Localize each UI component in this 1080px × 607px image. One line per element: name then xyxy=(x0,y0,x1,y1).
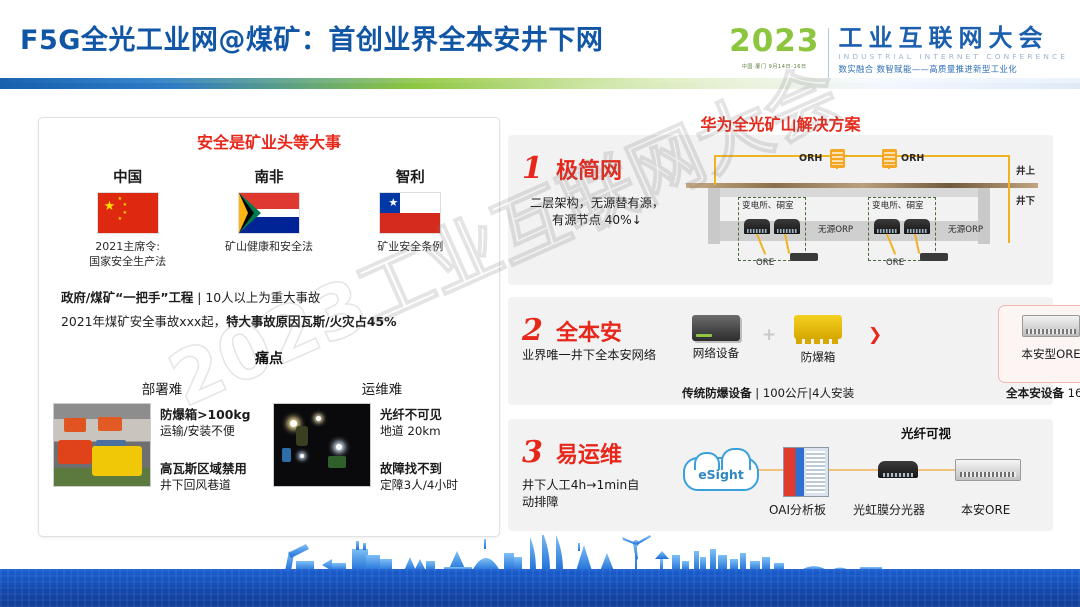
footer-decoration xyxy=(0,535,1080,607)
pain-item-bold: 高瓦斯区域禁用 xyxy=(160,461,247,476)
node-caption: 光虹膜分光器 xyxy=(853,501,925,518)
solution-section-easy-om: 3 易运维 井下人工4h→1min自 动排障 光纤可视 eSight OAI分析… xyxy=(508,419,1053,531)
topology-link xyxy=(917,469,959,471)
stat-line-1: 政府/煤矿“一把手”工程 | 10人以上为重大事故 xyxy=(61,286,479,310)
section-number: 2 xyxy=(522,313,543,348)
explosion-proof-box-icon xyxy=(794,315,842,339)
fiber-visible-label: 光纤可视 xyxy=(901,423,951,442)
node-caption: 本安ORE xyxy=(961,501,1010,518)
pain-point-maintenance: 运维难 光纤不可见 地道 20km 故障找不到 定障3人/4小时 xyxy=(273,378,485,493)
device-caption: 网络设备 xyxy=(678,345,754,361)
pain-points-row: 部署难 防爆箱>100kg 运输/安装不便 高瓦斯区域禁用 井下回风巷道 运维难 xyxy=(39,378,499,493)
section-heading: 易运维 xyxy=(556,437,622,469)
pain-points-title: 痛点 xyxy=(39,348,499,368)
intrinsically-safe-ore-icon xyxy=(955,459,1021,481)
underground-miners-photo xyxy=(273,403,371,487)
pain-item-bold: 防爆箱>100kg xyxy=(160,407,251,422)
ore-device-icon xyxy=(774,219,800,234)
optical-splitter-icon xyxy=(878,461,918,478)
logo-title-en: INDUSTRIAL INTERNET CONFERENCE xyxy=(838,52,1068,61)
logo-title-cn: 工业互联网大会 xyxy=(838,26,1068,51)
section-heading: 全本安 xyxy=(556,315,622,347)
flag-caption: 矿业安全条例 xyxy=(350,240,470,255)
device-network-equipment: 网络设备 xyxy=(678,315,754,361)
page-title: F5G全光工业网@煤矿：首创业界全本安井下网 xyxy=(20,18,603,57)
orp-node-left-icon xyxy=(790,253,818,261)
oai-board-icon xyxy=(783,447,829,497)
comparison-rest: 16公斤|1人安装 xyxy=(1064,386,1080,400)
comparison-bold: 传统防爆设备 xyxy=(682,386,752,400)
section-subtitle: 业界唯一井下全本安网络 xyxy=(522,347,672,364)
slide-header: F5G全光工业网@煤矿：首创业界全本安井下网 2023 中国·厦门 9月14日-… xyxy=(0,0,1080,88)
stat-1-rest: | 10人以上为重大事故 xyxy=(193,290,320,305)
left-panel-title: 安全是矿业头等大事 xyxy=(39,129,499,153)
conference-logo: 2023 中国·厦门 9月14日-16日 工业互联网大会 INDUSTRIAL … xyxy=(729,26,1068,82)
plus-icon: + xyxy=(762,325,776,345)
intrinsically-safe-ore-icon xyxy=(1022,315,1080,337)
shaft-right xyxy=(978,188,990,244)
right-panel-title: 华为全光矿山解决方案 xyxy=(508,111,1053,135)
substation-label-right: 变电所、硐室 xyxy=(872,199,924,211)
flag-country-label: 南非 xyxy=(209,166,329,187)
logo-divider xyxy=(828,28,829,80)
flag-country-label: 智利 xyxy=(350,166,470,187)
comparison-traditional: 传统防爆设备 | 100公斤|4人安装 xyxy=(682,385,854,401)
comparison-intrinsic: 全本安设备 16公斤|1人安装 xyxy=(1006,385,1080,401)
comparison-rest: | 100公斤|4人安装 xyxy=(752,386,855,400)
explosion-proof-boxes-photo xyxy=(53,403,151,487)
flag-item: 智利 ★ 矿业安全条例 xyxy=(350,166,470,270)
country-flags-row: 中国 ★ ★ ★ ★ ★ 2021主席令: 国家安全生产法 南非 矿山健康和安全… xyxy=(39,166,499,270)
arrow-right-icon: ❯ xyxy=(868,325,882,345)
ore-device-icon xyxy=(744,219,770,234)
logo-year-block: 2023 中国·厦门 9月14日-16日 xyxy=(729,26,828,70)
tunnel-top xyxy=(720,188,978,197)
section-heading: 极简网 xyxy=(556,153,622,185)
fiber-drop-left xyxy=(714,155,716,185)
orh-label-right: ORH xyxy=(901,153,924,164)
pain-head: 部署难 xyxy=(53,378,265,398)
underground-label: 井下 xyxy=(1016,193,1035,207)
pain-body: 光纤不可见 地道 20km 故障找不到 定障3人/4小时 xyxy=(273,403,485,493)
pain-item-text: 井下回风巷道 xyxy=(160,477,251,493)
orp-node-right-icon xyxy=(920,253,948,261)
orh-label-left: ORH xyxy=(799,153,822,164)
fiber-trunk xyxy=(714,155,1010,157)
node-caption: OAI分析板 xyxy=(769,501,826,518)
stat-line-2: 2021年煤矿安全事故xxx起，特大事故原因瓦斯/火灾占45% xyxy=(61,310,479,334)
solution-section-simplified-network: 1 极简网 二层架构，无源替有源， 有源节点 40%↓ ORH ORH 井上 井… xyxy=(508,135,1053,285)
flag-item: 南非 矿山健康和安全法 xyxy=(209,166,329,270)
orp-label-right: 无源ORP xyxy=(948,223,983,235)
logo-text-block: 工业互联网大会 INDUSTRIAL INTERNET CONFERENCE 数… xyxy=(838,26,1068,75)
fiber-drop-right xyxy=(1008,155,1010,243)
pain-body: 防爆箱>100kg 运输/安装不便 高瓦斯区域禁用 井下回风巷道 xyxy=(53,403,265,493)
esight-cloud-icon: eSight xyxy=(683,457,759,491)
logo-subtitle: 数实融合 数智赋能——高质量推进新型工业化 xyxy=(838,63,1068,75)
flag-caption: 2021主席令: 国家安全生产法 xyxy=(68,240,188,270)
flag-country-label: 中国 xyxy=(68,166,188,187)
pain-item-bold: 故障找不到 xyxy=(380,461,442,476)
footer-wave xyxy=(0,569,1080,607)
logo-year: 2023 xyxy=(729,26,819,57)
pain-item-text: 运输/安装不便 xyxy=(160,423,251,439)
left-panel: 安全是矿业头等大事 中国 ★ ★ ★ ★ ★ 2021主席令: 国家安全生产法 … xyxy=(38,117,500,537)
city-skyline-icon xyxy=(0,535,1080,573)
section-subtitle: 二层架构，无源替有源， 有源节点 40%↓ xyxy=(522,195,672,230)
ore-label-right: ORE xyxy=(886,258,904,268)
logo-year-subtitle: 中国·厦门 9月14日-16日 xyxy=(742,62,807,69)
shaft-left xyxy=(708,188,720,244)
stat-1-bold: 政府/煤矿“一把手”工程 xyxy=(61,290,193,305)
ore-label-left: ORE xyxy=(756,258,774,268)
solution-section-full-intrinsic-safety: 2 全本安 业界唯一井下全本安网络 网络设备 + 防爆箱 ❯ 本安型ORE + … xyxy=(508,297,1053,405)
flag-china-icon: ★ ★ ★ ★ ★ xyxy=(97,192,159,234)
network-device-icon xyxy=(692,315,740,341)
safety-statistics: 政府/煤矿“一把手”工程 | 10人以上为重大事故 2021年煤矿安全事故xxx… xyxy=(61,286,479,334)
mine-network-diagram: ORH ORH 井上 井下 变电所、硐室 变电所、硐室 无源ORP 无源ORP … xyxy=(668,141,1046,281)
orp-label-left: 无源ORP xyxy=(818,223,853,235)
pain-item-text: 地道 20km xyxy=(380,423,458,439)
surface-label: 井上 xyxy=(1016,163,1035,177)
pain-point-deployment: 部署难 防爆箱>100kg 运输/安装不便 高瓦斯区域禁用 井下回风巷道 xyxy=(53,378,265,493)
device-comparison-diagram: 网络设备 + 防爆箱 ❯ 本安型ORE + 本安箱 传统防爆设备 | 100公斤… xyxy=(668,303,1046,403)
comparison-bold: 全本安设备 xyxy=(1006,386,1064,400)
pain-text-block: 光纤不可见 地道 20km 故障找不到 定障3人/4小时 xyxy=(380,403,458,493)
orh-device-right-icon xyxy=(882,149,897,168)
flag-item: 中国 ★ ★ ★ ★ ★ 2021主席令: 国家安全生产法 xyxy=(68,166,188,270)
esight-label: eSight xyxy=(698,467,744,482)
device-caption: 防爆箱 xyxy=(780,349,856,365)
orh-device-left-icon xyxy=(830,149,845,168)
stat-2-rest: 2021年煤矿安全事故xxx起， xyxy=(61,314,226,329)
section-number: 3 xyxy=(522,435,543,470)
pain-head: 运维难 xyxy=(273,378,485,398)
substation-label-left: 变电所、硐室 xyxy=(742,199,794,211)
device-intrinsic-safe-ore: 本安型ORE xyxy=(1008,315,1080,362)
topology-link xyxy=(825,469,881,471)
header-rule xyxy=(0,83,1080,89)
flag-chile-icon: ★ xyxy=(379,192,441,234)
device-caption: 本安型ORE xyxy=(1008,346,1080,362)
ore-device-icon xyxy=(874,219,900,234)
pain-item-text: 定障3人/4小时 xyxy=(380,477,458,493)
section-number: 1 xyxy=(522,151,543,186)
om-topology-diagram: 光纤可视 eSight OAI分析板 光虹膜分光器 本安ORE xyxy=(683,431,1043,527)
flag-south-africa-icon xyxy=(238,192,300,234)
pain-text-block: 防爆箱>100kg 运输/安装不便 高瓦斯区域禁用 井下回风巷道 xyxy=(160,403,251,493)
stat-2-bold: 特大事故原因瓦斯/火灾占45% xyxy=(226,314,396,329)
device-explosion-proof-box: 防爆箱 xyxy=(780,315,856,365)
flag-caption: 矿山健康和安全法 xyxy=(209,240,329,255)
ore-device-icon xyxy=(904,219,930,234)
pain-item-bold: 光纤不可见 xyxy=(380,407,442,422)
section-subtitle: 井下人工4h→1min自 动排障 xyxy=(522,477,672,512)
